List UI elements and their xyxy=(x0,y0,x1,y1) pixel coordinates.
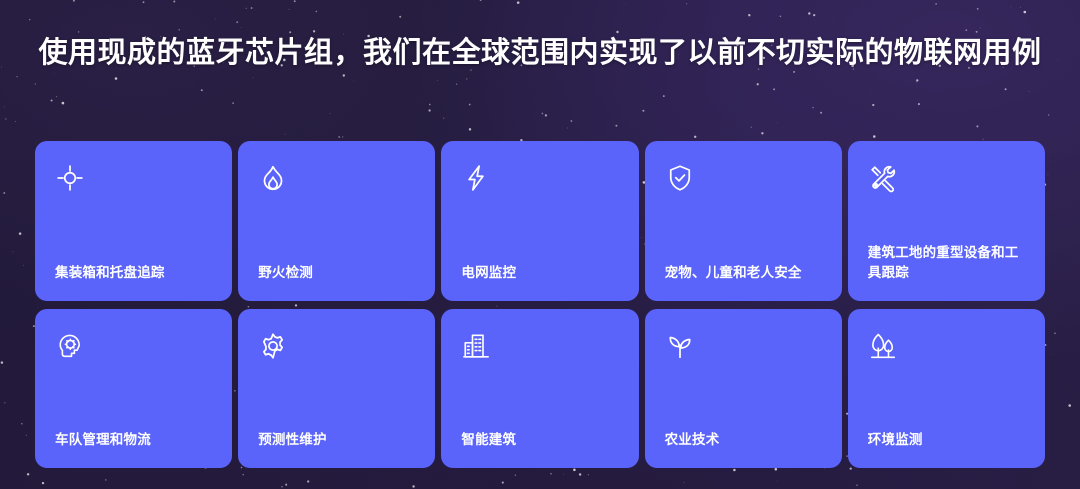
wrench-screwdriver-icon xyxy=(868,163,898,193)
use-case-card-agriculture-tech[interactable]: 农业技术 xyxy=(645,309,842,469)
trees-icon xyxy=(868,331,898,361)
lightning-bolt-icon xyxy=(461,163,491,193)
use-case-card-fleet-management[interactable]: 车队管理和物流 xyxy=(35,309,232,469)
use-case-card-predictive-maintenance[interactable]: 预测性维护 xyxy=(238,309,435,469)
use-case-card-wildfire-detection[interactable]: 野火检测 xyxy=(238,141,435,301)
use-case-card-smart-buildings[interactable]: 智能建筑 xyxy=(441,309,638,469)
use-case-card-environmental-monitoring[interactable]: 环境监测 xyxy=(848,309,1045,469)
use-case-card-grid: 集装箱和托盘追踪 野火检测 电网监控 宠物、儿童和老人安全 xyxy=(35,141,1045,468)
use-case-card-label: 农业技术 xyxy=(665,430,822,450)
use-case-card-label: 野火检测 xyxy=(258,263,415,283)
flame-icon xyxy=(258,163,288,193)
head-gear-icon xyxy=(55,331,85,361)
crosshair-target-icon xyxy=(55,163,85,193)
use-case-card-label: 电网监控 xyxy=(461,263,618,283)
use-case-card-family-safety[interactable]: 宠物、儿童和老人安全 xyxy=(645,141,842,301)
use-case-card-grid-monitoring[interactable]: 电网监控 xyxy=(441,141,638,301)
page-title: 使用现成的蓝牙芯片组，我们在全球范围内实现了以前不切实际的物联网用例 xyxy=(0,36,1080,71)
gear-icon xyxy=(258,331,288,361)
use-case-card-label: 集装箱和托盘追踪 xyxy=(55,263,212,283)
use-case-card-label: 宠物、儿童和老人安全 xyxy=(665,263,822,283)
buildings-icon xyxy=(461,331,491,361)
use-case-card-label: 智能建筑 xyxy=(461,430,618,450)
use-case-card-label: 预测性维护 xyxy=(258,430,415,450)
use-case-card-container-tracking[interactable]: 集装箱和托盘追踪 xyxy=(35,141,232,301)
shield-check-icon xyxy=(665,163,695,193)
use-case-card-construction-equipment[interactable]: 建筑工地的重型设备和工具跟踪 xyxy=(848,141,1045,301)
use-case-card-label: 环境监测 xyxy=(868,430,1025,450)
use-case-card-label: 车队管理和物流 xyxy=(55,430,212,450)
sprout-leaf-icon xyxy=(665,331,695,361)
use-case-card-label: 建筑工地的重型设备和工具跟踪 xyxy=(868,243,1025,282)
